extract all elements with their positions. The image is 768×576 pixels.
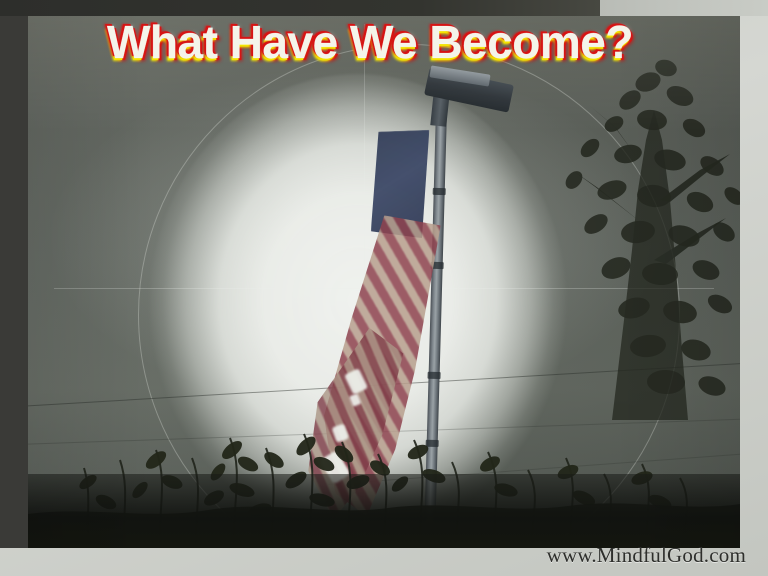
photo-frame: [0, 0, 740, 548]
foreground-shadow: [28, 474, 740, 548]
photograph: [28, 14, 740, 548]
site-watermark: www.MindfulGod.com: [547, 543, 746, 568]
foreground-foliage: [28, 398, 740, 548]
top-dark-band: [0, 0, 600, 16]
tree-silhouette: [520, 20, 740, 420]
top-light-band: [600, 0, 768, 16]
image-canvas: What Have We Become? www.MindfulGod.com: [0, 0, 768, 576]
page-title: What Have We Become?: [0, 18, 740, 66]
